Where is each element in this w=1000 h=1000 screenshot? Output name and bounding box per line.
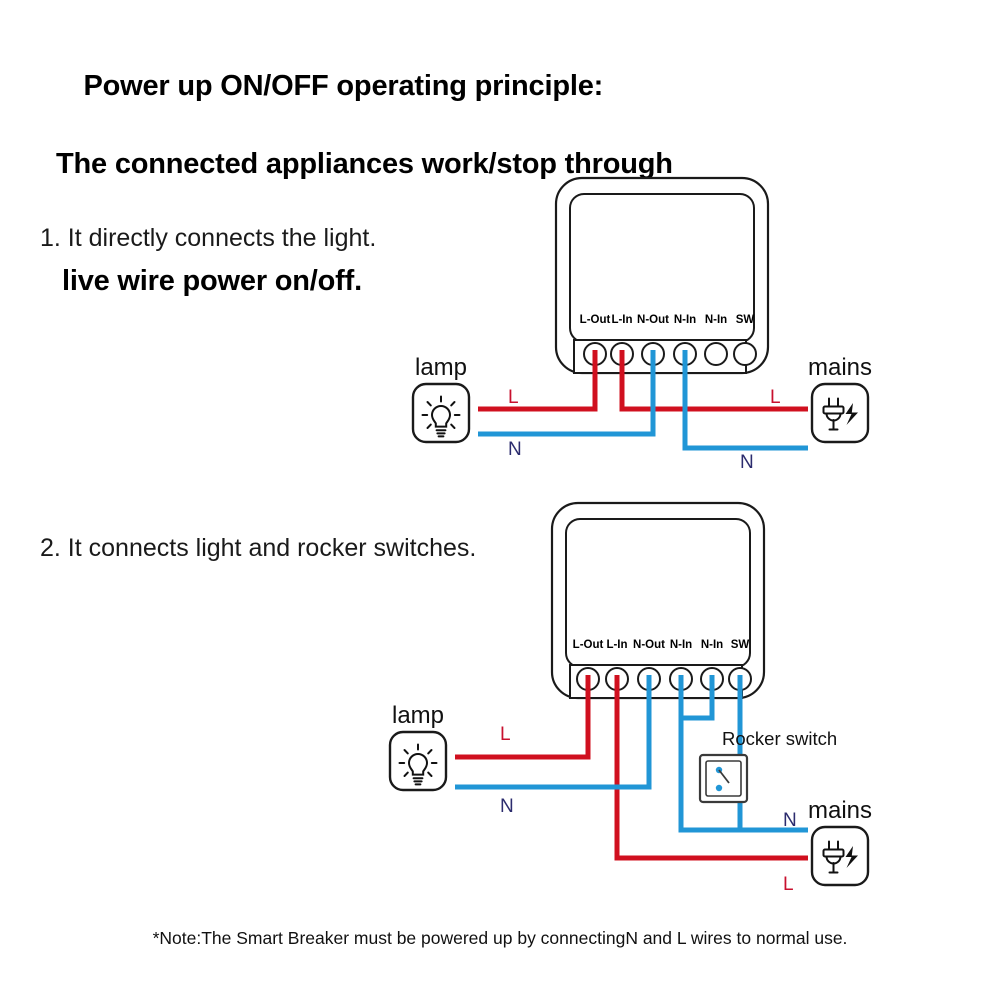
terminal-label-sw-1: SW [736, 314, 755, 326]
terminal-label-group-2: L-Out L-In N-Out N-In N-In SW [573, 639, 750, 651]
terminal-label-l-in-1: L-In [611, 314, 632, 326]
lamp-label-2: lamp [392, 702, 444, 729]
terminal-label-n-in-b-1: N-In [705, 314, 727, 326]
wire-label-lamp-live-1: L [508, 387, 519, 408]
lamp-node-1: lamp [413, 354, 469, 442]
lamp-label-1: lamp [415, 354, 467, 381]
terminal-label-n-in-b-2: N-In [701, 639, 723, 651]
diagram-2: L-Out L-In N-Out N-In N-In SW [390, 503, 872, 895]
terminal-label-sw-2: SW [731, 639, 750, 651]
terminal-label-n-in-a-2: N-In [670, 639, 692, 651]
terminal-label-n-in-a-1: N-In [674, 314, 696, 326]
wiring-diagrams: L-Out L-In N-Out N-In N-In SW [0, 0, 1000, 1000]
wire-label-mains-neutral-1: N [740, 452, 754, 473]
wire-label-mains-live-2: L [783, 874, 794, 895]
wire-label-lamp-neutral-2: N [500, 796, 514, 817]
diagram-page: Power up ON/OFF operating principle: The… [0, 0, 1000, 1000]
rocker-switch-contact-bottom [716, 785, 722, 791]
footer-note: *Note:The Smart Breaker must be powered … [0, 928, 1000, 949]
terminal-label-n-out-1: N-Out [637, 314, 669, 326]
terminal-label-n-out-2: N-Out [633, 639, 665, 651]
mains-node-2: mains [808, 797, 872, 885]
terminal-label-l-out-1: L-Out [580, 314, 611, 326]
terminal-label-l-out-2: L-Out [573, 639, 604, 651]
terminal-hole-5-1 [705, 343, 727, 365]
mains-node-1: mains [808, 354, 872, 442]
wire-label-mains-neutral-2: N [783, 810, 797, 831]
wire-label-lamp-neutral-1: N [508, 439, 522, 460]
terminal-hole-6-1 [734, 343, 756, 365]
mains-label-2: mains [808, 797, 872, 824]
rocker-switch-frame-inner [706, 761, 741, 796]
wire-label-lamp-live-2: L [500, 724, 511, 745]
wire-label-mains-live-1: L [770, 387, 781, 408]
rocker-switch-node[interactable]: Rocker switch [700, 728, 837, 802]
diagram-1: L-Out L-In N-Out N-In N-In SW [413, 178, 872, 473]
lamp-node-2: lamp [390, 702, 446, 790]
terminal-label-l-in-2: L-In [606, 639, 627, 651]
mains-label-1: mains [808, 354, 872, 381]
rocker-switch-label: Rocker switch [722, 728, 837, 749]
